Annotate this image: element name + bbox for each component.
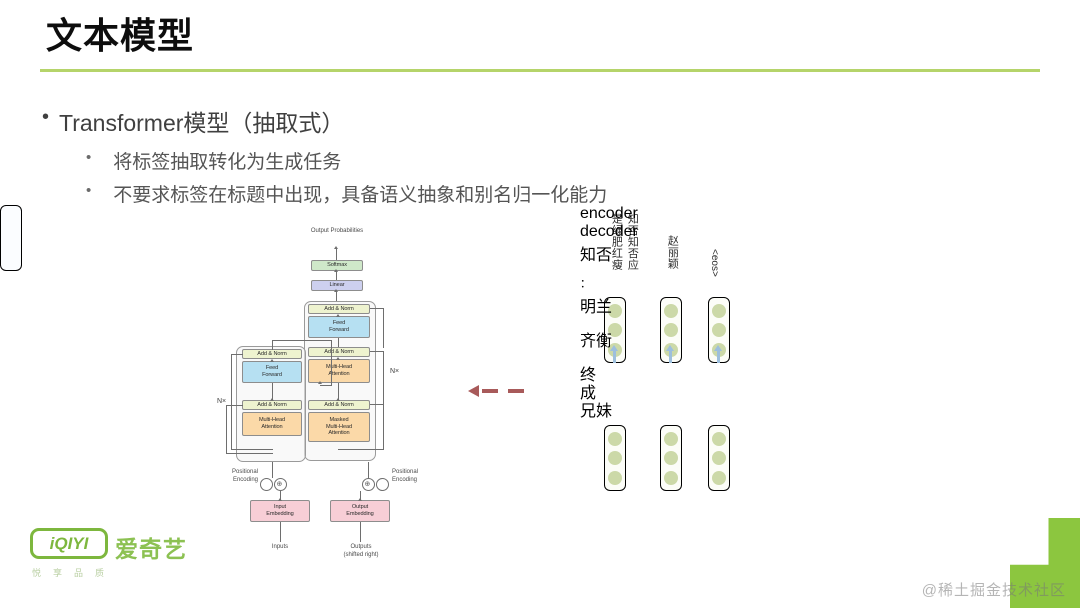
bullet-level2-1: • 将标签抽取转化为生成任务 [86, 147, 341, 174]
decoder-add-norm-2: Add & Norm [308, 347, 370, 357]
dash-segment [508, 389, 524, 393]
bottom-label-6: 兄妹 [580, 397, 980, 431]
bullet-level2-2-text: 不要求标签在标题中出现，具备语义抽象和别名归一化能力 [113, 180, 607, 207]
bottom-label-4: 终 [580, 361, 980, 379]
bullet-level2-2: • 不要求标签在标题中出现，具备语义抽象和别名归一化能力 [86, 180, 607, 207]
iqiyi-logo-mark: iQIYI [30, 528, 108, 559]
flow-arrow-icon [278, 498, 282, 501]
decoder-cross-attention: Multi-Head Attention [308, 359, 370, 383]
encoder-to-decoder-line [272, 340, 273, 350]
iqiyi-logo: iQIYI 爱奇艺 悦享品质 [30, 528, 190, 586]
flow-line [272, 462, 273, 478]
flow-line [336, 291, 337, 301]
residual-line [383, 404, 384, 450]
sine-wave-icon-left [260, 478, 273, 491]
encoder-feed-forward-label: Feed Forward [262, 365, 282, 378]
decoder-add-norm-1: Add & Norm [308, 400, 370, 410]
decoder-cross-attention-label: Multi-Head Attention [326, 364, 352, 377]
plus-icon-right: ⊕ [365, 481, 371, 488]
flow-line [336, 248, 337, 260]
encoder-nx-label: N× [217, 398, 226, 405]
flow-line [280, 522, 281, 542]
flow-arrow-icon [334, 246, 338, 249]
residual-line [383, 351, 384, 404]
transfer-arrow-head-icon [468, 385, 479, 397]
positional-encoding-right-label: Positional Encoding [392, 469, 440, 484]
flow-arrow-icon [334, 289, 338, 292]
residual-line [383, 308, 384, 348]
flow-line [338, 383, 339, 400]
decoder-box[interactable]: decoder [580, 223, 980, 241]
flow-line [338, 338, 339, 347]
residual-line [231, 449, 273, 450]
encoder-add-norm-1: Add & Norm [242, 400, 302, 410]
encoder-box[interactable]: encoder [580, 205, 980, 223]
flow-line [368, 462, 369, 478]
iqiyi-logo-tagline: 悦享品质 [32, 566, 116, 579]
residual-line [226, 405, 243, 406]
bottom-label-0: 知否 [580, 241, 980, 275]
encoder-feed-forward: Feed Forward [242, 361, 302, 383]
outputs-label: Outputs [336, 544, 386, 552]
output-embedding-box: Output Embedding [330, 500, 390, 522]
positional-encoding-left-label: Positional Encoding [210, 469, 258, 484]
transfer-arrow [468, 385, 574, 397]
bottom-label-1: ： [580, 275, 980, 293]
slide-canvas: 文本模型 • Transformer模型（抽取式） • 将标签抽取转化为生成任务… [0, 0, 1080, 608]
bullet-level2-1-text: 将标签抽取转化为生成任务 [113, 147, 341, 174]
encoder-decoder-layer: encoder decoder [580, 205, 980, 545]
decoder-feed-forward-label: Feed Forward [329, 320, 349, 333]
encoder-self-attention: Multi-Head Attention [242, 412, 302, 436]
decoder-nx-label: N× [390, 368, 399, 375]
decoder-add-norm-3: Add & Norm [308, 304, 370, 314]
input-embedding-label: Input Embedding [266, 504, 293, 517]
flow-arrow-icon [358, 498, 362, 501]
inputs-label: Inputs [256, 544, 304, 552]
flow-line [336, 271, 337, 280]
output-embedding-label: Output Embedding [346, 504, 373, 517]
residual-line [231, 354, 243, 355]
encoder-add-norm-2: Add & Norm [242, 349, 302, 359]
bullet-marker-icon: • [42, 104, 49, 131]
decoder-feed-forward: Feed Forward [308, 316, 370, 338]
flow-arrow-icon [318, 381, 322, 384]
flow-line [360, 522, 361, 542]
bottom-label-3: 齐衡 [580, 327, 980, 361]
bullet-level1: • Transformer模型（抽取式） [42, 104, 344, 138]
bullet-marker-icon: • [86, 147, 91, 170]
decoder-masked-attention-label: Masked Multi-Head Attention [326, 417, 352, 437]
decoder-masked-attention: Masked Multi-Head Attention [308, 412, 370, 442]
residual-line [226, 453, 273, 454]
bottom-label-5: 成 [580, 379, 980, 397]
watermark-text: @稀土掘金技术社区 [922, 579, 1066, 600]
title-underline-rule [40, 69, 1040, 72]
flow-arrow-icon [336, 357, 340, 360]
outputs-shifted-label: (shifted right) [330, 552, 392, 560]
flow-arrow-icon [270, 359, 274, 362]
encoder-to-decoder-line [272, 340, 332, 341]
transformer-architecture-figure: Output Probabilities Softmax Linear Add … [212, 228, 440, 560]
residual-line [226, 405, 227, 454]
residual-line [370, 351, 384, 352]
bottom-label-2: 明兰 [580, 293, 980, 327]
output-probabilities-label: Output Probabilities [300, 228, 374, 236]
dash-segment [482, 389, 498, 393]
residual-line [231, 354, 232, 450]
bullet-marker-icon: • [86, 180, 91, 203]
flow-line [272, 383, 273, 400]
encoder-to-decoder-line [331, 340, 332, 386]
plus-icon-left: ⊕ [277, 481, 283, 488]
input-embedding-box: Input Embedding [250, 500, 310, 522]
iqiyi-logo-cn: 爱奇艺 [115, 530, 187, 564]
residual-line [338, 449, 384, 450]
residual-line [370, 404, 384, 405]
page-title: 文本模型 [46, 14, 194, 57]
encoder-self-attention-label: Multi-Head Attention [259, 417, 285, 430]
bullet-level1-text: Transformer模型（抽取式） [59, 104, 344, 138]
flow-arrow-icon [336, 314, 340, 317]
flow-arrow-icon [334, 269, 338, 272]
residual-line [370, 308, 384, 309]
encoder-to-decoder-line [320, 385, 332, 386]
sine-wave-icon-right [376, 478, 389, 491]
